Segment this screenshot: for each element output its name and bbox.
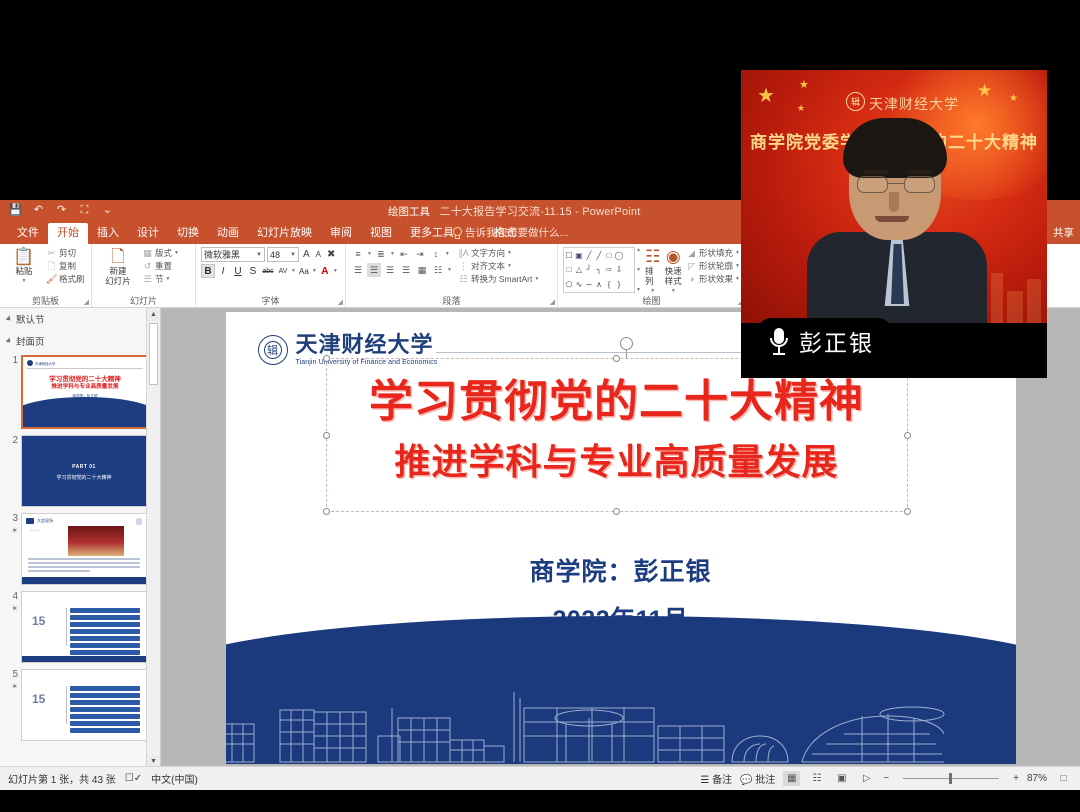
mini-badge-icon: [136, 518, 142, 525]
clipboard-dialog-launcher[interactable]: ◢: [84, 298, 89, 306]
mini-slide-1: 天津财经大学 学习贯彻党的二十大精神 推进学科与专业高质量发展 商学院：彭正银 …: [23, 357, 147, 427]
mini-slide-4: 二十大报告共计15个部分 15: [22, 592, 146, 662]
cut-label: 剪切: [59, 247, 76, 259]
thumbnail-image[interactable]: 二十大报告共计15个部分 15: [21, 591, 147, 663]
smartart-icon: ☷: [458, 273, 469, 285]
slide-number: 5: [12, 669, 18, 680]
shape-rect-icon[interactable]: □: [607, 251, 612, 260]
mini-quote-icon: ““: [30, 528, 40, 538]
chevron-down-icon[interactable]: ▼: [735, 273, 740, 285]
thumbnail-image[interactable]: PART 01 学习贯彻党的二十大精神: [21, 435, 147, 507]
mini-vertical-rule: [66, 608, 67, 646]
drawing-group-label: 绘图: [558, 296, 745, 307]
new-slide-label-1: 新建: [109, 266, 126, 276]
section-header-cover[interactable]: 封面页: [0, 330, 160, 352]
thumbnail-slide-5[interactable]: 5 ✶ 15: [0, 666, 160, 744]
section-label: 封面页: [16, 334, 45, 348]
university-crest-icon: [258, 335, 288, 365]
character-spacing-button[interactable]: AV: [276, 264, 290, 278]
mini-blue-base: [21, 397, 149, 427]
section-label: 节: [155, 273, 164, 285]
slide-number: 4: [12, 591, 18, 602]
chevron-down-icon[interactable]: ▼: [735, 247, 740, 259]
effects-icon: ◑: [686, 273, 697, 285]
scroll-down-icon[interactable]: ▼: [636, 267, 641, 273]
star-icon: ★: [977, 82, 992, 99]
align-center-button[interactable]: ☰: [367, 263, 381, 277]
quick-styles-button[interactable]: ◉ 快速样式 ▼: [665, 247, 682, 296]
star-icon: ★: [1009, 94, 1018, 104]
slide-presenter: 商学院：彭正银: [226, 552, 1016, 588]
speaker-brow-left: [863, 170, 889, 174]
align-left-button[interactable]: ☰: [351, 263, 365, 277]
resize-handle-ml[interactable]: [323, 432, 330, 439]
mini-slide-5: 15: [22, 670, 146, 740]
resize-handle-bl[interactable]: [323, 508, 330, 515]
shape-outline-button[interactable]: ◸ 形状轮廓 ▼: [686, 260, 740, 272]
speaker-glasses: [857, 176, 935, 193]
zoom-out-button[interactable]: −: [883, 773, 889, 784]
slide-number: 3: [12, 513, 18, 524]
section-dropdown-icon[interactable]: ▼: [166, 273, 171, 285]
shapes-gallery-scroll[interactable]: ▲ ▼ ▼: [635, 247, 641, 293]
star-icon: ★: [797, 104, 805, 113]
section-icon: ☰: [142, 273, 153, 285]
shape-line-icon[interactable]: ╱: [587, 251, 592, 260]
shape-arrow-down-icon[interactable]: ⇩: [616, 265, 623, 274]
ribbon-group-font: 微软雅黑 ▼ 48 ▼ A A ✖ B I U: [196, 244, 346, 307]
thumbnail-scrollbar[interactable]: ▲ ▼: [146, 308, 160, 768]
chevron-down-icon[interactable]: ▼: [507, 247, 512, 259]
chevron-down-icon[interactable]: ▼: [367, 251, 372, 257]
shape-curve-icon[interactable]: ∼: [586, 280, 593, 289]
layout-button[interactable]: ▦ 版式 ▼: [142, 247, 179, 259]
video-university-crest-icon: [846, 92, 865, 111]
shape-brace-left-icon[interactable]: {: [608, 280, 611, 289]
change-case-button[interactable]: Aa: [297, 264, 311, 278]
comments-label: 批注: [755, 775, 775, 786]
mini-title-2: 推进学科与专业高质量发展: [23, 382, 147, 390]
slide-number: 1: [12, 355, 18, 366]
align-text-label: 对齐文本: [471, 260, 505, 272]
zoom-slider[interactable]: [897, 772, 1005, 785]
tab-file[interactable]: 文件: [8, 223, 48, 244]
slide-number: 2: [12, 435, 18, 446]
rotate-stem: [626, 349, 627, 359]
normal-view-button[interactable]: ▦: [783, 771, 800, 786]
shape-line2-icon[interactable]: ╱: [597, 251, 602, 260]
shape-arc-icon[interactable]: ∧: [596, 280, 602, 289]
animation-star-icon: ✶: [2, 603, 18, 615]
font-size-combo[interactable]: 48 ▼: [267, 247, 299, 262]
shape-fill-label: 形状填充: [699, 247, 733, 259]
align-right-button[interactable]: ☰: [383, 263, 397, 277]
font-family-combo[interactable]: 微软雅黑 ▼: [201, 247, 265, 262]
tab-review[interactable]: 审阅: [321, 223, 361, 244]
zoom-level-label: 87%: [1027, 773, 1047, 784]
resize-handle-bc[interactable]: [613, 508, 620, 515]
notes-button[interactable]: ☰ 备注: [700, 771, 732, 786]
shape-effects-button[interactable]: ◑ 形状效果 ▼: [686, 273, 740, 285]
arrange-button[interactable]: ☷ 排列 ▼: [645, 247, 661, 296]
resize-handle-tc[interactable]: [613, 355, 620, 362]
paste-button[interactable]: 📋 粘贴 ▼: [5, 247, 43, 286]
mini-footer: [22, 577, 146, 584]
chevron-down-icon[interactable]: ▼: [312, 268, 317, 274]
notes-label: 备注: [712, 775, 732, 786]
speaker-mouth: [875, 216, 909, 222]
paste-icon: 📋: [13, 247, 34, 266]
convert-to-smartart-button[interactable]: ☷ 转换为 SmartArt ▼: [458, 273, 539, 285]
bold-button[interactable]: B: [201, 264, 215, 278]
shape-square-icon[interactable]: □: [567, 265, 572, 274]
shape-corner-icon[interactable]: ╯: [587, 265, 592, 274]
spell-check-icon[interactable]: ☐✓: [125, 773, 142, 784]
mini-footer: [22, 656, 146, 662]
mini-part-label: PART 01: [22, 464, 146, 470]
tab-transitions[interactable]: 切换: [168, 223, 208, 244]
contextual-tab-group-label: 绘图工具: [388, 204, 430, 219]
distribute-button[interactable]: ▦: [415, 263, 429, 277]
resize-handle-br[interactable]: [904, 508, 911, 515]
shape-pentagon-icon[interactable]: ⬠: [566, 280, 573, 289]
copy-button[interactable]: 🗋 复制: [46, 260, 85, 272]
chevron-down-icon[interactable]: ▼: [254, 252, 262, 258]
clipboard-group-label: 剪贴板: [0, 296, 91, 307]
reading-view-button[interactable]: ▣: [833, 771, 850, 786]
shape-scribble-icon[interactable]: ∿: [576, 280, 583, 289]
ribbon-group-paragraph: ≡▼ ≣▼ ⇤ ⇥ ↕▼ ☰ ☰ ☰ ☰ ▦ ☷▼: [346, 244, 558, 307]
smartart-label: 转换为 SmartArt: [471, 273, 532, 285]
tell-me-placeholder: 告诉我您想要做什么...: [465, 225, 568, 240]
thumbnail-slide-2[interactable]: 2 PART 01 学习贯彻党的二十大精神: [0, 432, 160, 510]
chevron-down-icon[interactable]: ▼: [447, 267, 452, 273]
copy-label: 复制: [59, 260, 76, 272]
speaker-name-badge: 彭正银: [757, 318, 892, 364]
chevron-down-icon[interactable]: ▼: [671, 286, 676, 296]
copy-icon: 🗋: [46, 260, 57, 272]
chevron-down-icon[interactable]: ▼: [534, 273, 539, 285]
ribbon-group-clipboard: 📋 粘贴 ▼ ✂ 剪切 🗋 复制: [0, 244, 92, 307]
tab-slideshow[interactable]: 幻灯片放映: [248, 223, 321, 244]
section-header-default[interactable]: 默认节: [0, 308, 160, 330]
new-slide-label-2: 幻灯片: [105, 276, 131, 286]
fit-slide-button[interactable]: □: [1055, 771, 1072, 786]
thumbnail-image[interactable]: 天津财经大学 学习贯彻党的二十大精神 推进学科与专业高质量发展 商学院：彭正银 …: [21, 355, 149, 429]
cut-button[interactable]: ✂ 剪切: [46, 247, 85, 259]
speaker-figure: [813, 118, 978, 323]
slide-thumbnail-pane[interactable]: 默认节 封面页 1 天津财经大学 学习贯彻党的二十大精神 推进学科与专业高质量发…: [0, 308, 161, 768]
star-icon: ★: [799, 80, 809, 91]
mini-photo: [68, 526, 124, 556]
mic-icon[interactable]: [769, 327, 789, 355]
paragraph-dialog-launcher[interactable]: ◢: [550, 298, 555, 306]
numbering-button[interactable]: ≣: [374, 247, 388, 261]
thumbnail-slide-1[interactable]: 1 天津财经大学 学习贯彻党的二十大精神 推进学科与专业高质量发展 商学院：彭正…: [0, 352, 160, 432]
chevron-down-icon[interactable]: ▼: [507, 260, 512, 272]
shape-textbox-icon[interactable]: ☐: [565, 251, 572, 260]
line-spacing-button[interactable]: ↕: [429, 247, 443, 261]
clear-formatting-icon[interactable]: ✖: [325, 247, 337, 262]
text-direction-button[interactable]: ∥A 文字方向 ▼: [458, 247, 539, 259]
reset-label: 重置: [155, 260, 172, 272]
font-size-value: 48: [270, 250, 288, 260]
layout-label: 版式: [155, 247, 172, 259]
align-text-icon: ⋮: [458, 260, 469, 272]
columns-button[interactable]: ☷: [431, 263, 445, 277]
mini-slide-title: 大会现场: [37, 518, 53, 524]
arrange-label: 排列: [645, 266, 661, 286]
scissors-icon: ✂: [46, 247, 57, 259]
language-label[interactable]: 中文(中国): [151, 771, 198, 786]
screen-root: 💾 ↶ ↷ ⛶ ⌄ 二十大报告学习交流-11.15 - PowerPoint 绘…: [0, 0, 1080, 812]
section-label: 默认节: [16, 312, 45, 326]
mini-vertical-rule: [66, 686, 67, 724]
mini-part-title: 学习贯彻党的二十大精神: [22, 474, 146, 481]
new-slide-icon: 🗋: [111, 247, 125, 266]
section-button[interactable]: ☰ 节 ▼: [142, 273, 179, 285]
decrease-font-size-button[interactable]: A: [314, 247, 323, 262]
collapse-triangle-icon[interactable]: [5, 315, 12, 322]
text-shadow-button[interactable]: S: [246, 264, 260, 278]
speaker-nose: [889, 192, 899, 212]
zoom-knob[interactable]: [949, 773, 952, 784]
star-icon: ★: [757, 86, 775, 106]
thumbnail-image[interactable]: 大会现场 ““: [21, 513, 147, 585]
quick-styles-icon: ◉: [666, 247, 681, 266]
layout-dropdown-icon[interactable]: ▼: [174, 247, 179, 259]
fill-bucket-icon: ◢: [686, 247, 697, 259]
lightbulb-icon: [452, 227, 461, 239]
thumbnail-image[interactable]: 15: [21, 669, 147, 741]
mini-divider: [27, 368, 143, 369]
tab-view[interactable]: 视图: [361, 223, 401, 244]
university-name-cn: 天津财经大学: [296, 334, 438, 356]
shape-fill-button[interactable]: ◢ 形状填充 ▼: [686, 247, 740, 259]
shape-frame-icon[interactable]: ▣: [575, 251, 583, 260]
thumbnail-slide-3[interactable]: 3 ✶ 大会现场 ““: [0, 510, 160, 588]
video-feed: ★ ★ ★ ★ ★ 天津财经大学 商学院党委学习贯彻党的二十大精神 动员会: [741, 70, 1047, 323]
mini-bar-list: [70, 608, 140, 657]
align-text-button[interactable]: ⋮ 对齐文本 ▼: [458, 260, 539, 272]
tab-design[interactable]: 设计: [128, 223, 168, 244]
layout-icon: ▦: [142, 247, 153, 259]
text-direction-icon: ∥A: [458, 247, 469, 259]
speaker-hair: [843, 118, 947, 178]
reset-button[interactable]: ↺ 重置: [142, 260, 179, 272]
mini-slide-2: PART 01 学习贯彻党的二十大精神: [22, 436, 146, 506]
chevron-down-icon[interactable]: ▼: [650, 286, 655, 296]
chevron-down-icon[interactable]: ▼: [333, 268, 338, 274]
chevron-down-icon[interactable]: ▼: [445, 251, 450, 257]
chevron-down-icon[interactable]: ▼: [735, 260, 740, 272]
paste-dropdown-icon[interactable]: ▼: [22, 276, 27, 286]
shape-triangle-icon[interactable]: △: [576, 265, 582, 274]
quick-styles-label: 快速样式: [665, 266, 682, 286]
resize-handle-mr[interactable]: [904, 432, 911, 439]
new-slide-button[interactable]: 🗋 新建 幻灯片: [97, 247, 139, 286]
paintbrush-icon: 🖌: [46, 273, 57, 285]
strikethrough-button[interactable]: abc: [261, 264, 275, 278]
zoom-in-button[interactable]: +: [1013, 773, 1019, 784]
slide-title-line-2: 推进学科与专业高质量发展: [327, 433, 907, 485]
mini-slide-3: 大会现场 ““: [22, 514, 146, 584]
speaker-brow-right: [905, 170, 931, 174]
slideshow-view-button[interactable]: ▷: [858, 771, 875, 786]
mini-bar-list: [70, 686, 140, 735]
slide-count-label: 幻灯片第 1 张，共 43 张: [8, 771, 116, 786]
slide-sorter-view-button[interactable]: ☷: [808, 771, 825, 786]
shape-outline-label: 形状轮廓: [699, 260, 733, 272]
format-painter-button[interactable]: 🖌 格式刷: [46, 273, 85, 285]
tab-home[interactable]: 开始: [48, 223, 88, 244]
mini-big-number: 15: [32, 614, 45, 628]
scroll-up-icon[interactable]: ▲: [636, 247, 641, 253]
shapes-gallery[interactable]: ☐ ▣ ╱ ╱ □ ◯ □ △ ╯ ╮ ⇨ ⇩: [563, 247, 635, 293]
outline-icon: ◸: [686, 260, 697, 272]
mini-text-lines: [28, 558, 140, 574]
justify-button[interactable]: ☰: [399, 263, 413, 277]
ribbon-group-drawing: ☐ ▣ ╱ ╱ □ ◯ □ △ ╯ ╮ ⇨ ⇩: [558, 244, 746, 307]
scroll-up-icon[interactable]: ▲: [147, 308, 160, 321]
tab-animations[interactable]: 动画: [208, 223, 248, 244]
font-family-value: 微软雅黑: [204, 248, 254, 261]
increase-font-size-button[interactable]: A: [301, 247, 312, 262]
title-textbox-selected[interactable]: 学习贯彻党的二十大精神 推进学科与专业高质量发展: [326, 358, 908, 512]
shape-effects-label: 形状效果: [699, 273, 733, 285]
chevron-down-icon[interactable]: ▼: [291, 268, 296, 274]
tell-me-box[interactable]: 告诉我您想要做什么...: [452, 225, 568, 240]
ribbon-group-slides: 🗋 新建 幻灯片 ▦ 版式 ▼ ↺ 重置: [92, 244, 196, 307]
shape-corner2-icon[interactable]: ╮: [597, 265, 602, 274]
font-group-label: 字体: [196, 296, 345, 307]
animation-star-icon: ✶: [2, 681, 18, 693]
slides-group-label: 幻灯片: [92, 296, 195, 307]
paragraph-group-label: 段落: [346, 296, 557, 307]
speaker-name-label: 彭正银: [799, 324, 874, 358]
comments-button[interactable]: 💬 批注: [740, 771, 775, 786]
scrollbar-thumb[interactable]: [149, 323, 158, 385]
arrange-icon: ☷: [645, 247, 660, 266]
video-university-name: 天津财经大学: [869, 94, 959, 114]
mini-crest-icon: [27, 360, 33, 366]
shape-arrow-right-icon[interactable]: ⇨: [606, 265, 613, 274]
mini-university: 天津财经大学: [35, 361, 55, 366]
shape-brace-right-icon[interactable]: }: [618, 280, 621, 289]
font-color-button[interactable]: A: [318, 264, 332, 278]
status-bar: 幻灯片第 1 张，共 43 张 ☐✓ 中文(中国) ☰ 备注 💬 批注 ▦ ☷ …: [0, 766, 1080, 790]
font-dialog-launcher[interactable]: ◢: [338, 298, 343, 306]
slide-canvas[interactable]: 天津财经大学 Tianjin University of Finance and…: [226, 312, 1016, 764]
bullets-button[interactable]: ≡: [351, 247, 365, 261]
resize-handle-tl[interactable]: [323, 355, 330, 362]
shapes-more-icon[interactable]: ▼: [636, 287, 641, 293]
slide-blue-base: [226, 616, 1016, 764]
reset-icon: ↺: [142, 260, 153, 272]
text-direction-label: 文字方向: [471, 247, 505, 259]
tab-insert[interactable]: 插入: [88, 223, 128, 244]
mini-big-number: 15: [32, 692, 45, 706]
animation-star-icon: ✶: [2, 525, 18, 537]
chevron-down-icon[interactable]: ▼: [288, 252, 296, 258]
chevron-down-icon[interactable]: ▼: [390, 251, 395, 257]
decrease-indent-button[interactable]: ⇤: [397, 247, 411, 261]
mini-header-icon: [26, 518, 34, 524]
video-overlay[interactable]: ★ ★ ★ ★ ★ 天津财经大学 商学院党委学习贯彻党的二十大精神 动员会: [741, 56, 1047, 378]
underline-button[interactable]: U: [231, 264, 245, 278]
italic-button[interactable]: I: [216, 264, 230, 278]
format-painter-label: 格式刷: [59, 273, 85, 285]
city-skyline-graphic: [226, 674, 953, 764]
increase-indent-button[interactable]: ⇥: [413, 247, 427, 261]
share-button[interactable]: 共享: [1053, 225, 1074, 240]
thumbnail-slide-4[interactable]: 4 ✶ 二十大报告共计15个部分 15: [0, 588, 160, 666]
shape-oval-icon[interactable]: ◯: [615, 251, 624, 260]
paste-label: 粘贴: [15, 266, 32, 276]
collapse-triangle-icon[interactable]: [5, 337, 12, 344]
